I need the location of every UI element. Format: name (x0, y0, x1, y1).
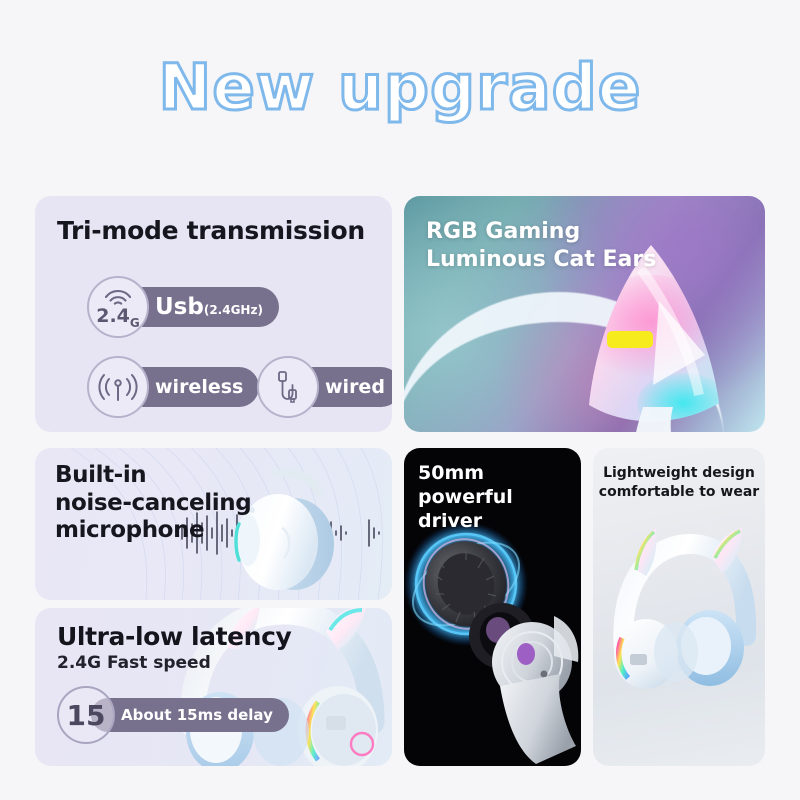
mode-pill-main: wireless (155, 367, 243, 407)
mode-pill-sub: (2.4GHz) (204, 303, 263, 317)
antenna-broadcast-icon (87, 356, 149, 418)
card-tri-mode-transmission: Tri-mode transmission 2.4G Usb (2.4GHz) (35, 196, 392, 432)
card-title-line1: Lightweight design (593, 464, 765, 483)
headphones-product-image (602, 526, 756, 696)
mode-pill-main: Usb (155, 287, 204, 327)
wifi-24g-icon: 2.4G (87, 276, 149, 338)
card-title-line2: comfortable to wear (593, 483, 765, 502)
card-title-line1: Built-in (55, 462, 251, 490)
card-title-line1: RGB Gaming (426, 218, 656, 246)
card-title-line2: Luminous Cat Ears (426, 246, 656, 274)
card-title: Built-in noise-canceling microphone (55, 462, 251, 545)
card-title: RGB Gaming Luminous Cat Ears (426, 218, 656, 274)
hero-banner: New upgrade (0, 48, 800, 128)
card-title-line2: powerful driver (418, 486, 581, 534)
mode-badge-wired: wired (257, 356, 392, 418)
card-rgb-gaming-cat-ears: RGB Gaming Luminous Cat Ears (404, 196, 765, 432)
usb-cable-icon (257, 356, 319, 418)
card-title-line1: 50mm (418, 462, 581, 486)
mode-badge-wireless: wireless (87, 356, 259, 418)
card-title: 50mm powerful driver (418, 462, 581, 533)
card-noise-canceling-microphone: Built-in noise-canceling microphone (35, 448, 392, 600)
card-ultra-low-latency: Ultra-low latency 2.4G Fast speed 15 Abo… (35, 608, 392, 766)
card-title: Tri-mode transmission (57, 216, 365, 245)
card-title: Ultra-low latency (57, 622, 291, 651)
card-50mm-powerful-driver: 50mm powerful driver (404, 448, 581, 766)
mode-pill-main: wired (325, 367, 385, 407)
page-title: New upgrade (158, 48, 641, 128)
card-lightweight-design: Lightweight design comfortable to wear (593, 448, 765, 766)
card-subtitle: 2.4G Fast speed (57, 653, 211, 673)
mode-circle-label: 2.4G (96, 307, 140, 329)
card-title: Lightweight design comfortable to wear (593, 464, 765, 502)
card-title-line3: microphone (55, 517, 251, 545)
speaker-driver-image (404, 496, 581, 766)
latency-badge: 15 About 15ms delay (57, 686, 289, 744)
latency-pill-label: About 15ms delay (91, 698, 289, 732)
card-title-line2: noise-canceling (55, 490, 251, 518)
latency-number: 15 (57, 686, 115, 744)
mode-badge-usb: 2.4G Usb (2.4GHz) (87, 276, 279, 338)
